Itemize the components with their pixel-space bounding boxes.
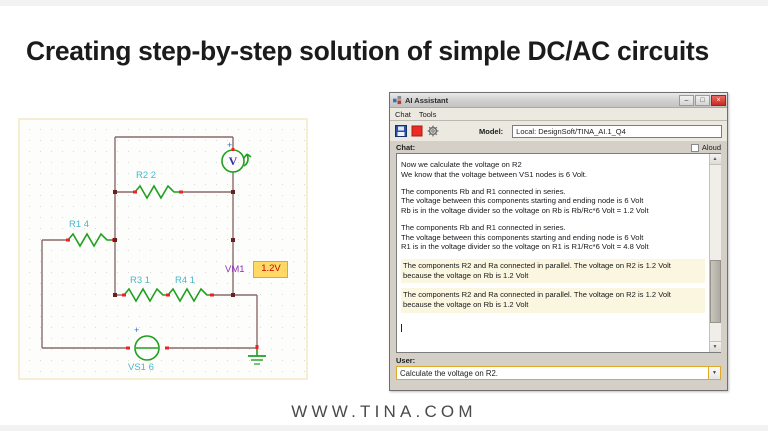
model-label: Model: [479,127,503,136]
text-caret [401,324,402,332]
chat-header-row: Chat: Aloud [390,141,727,153]
chevron-down-icon[interactable]: ▼ [709,366,721,380]
aloud-checkbox-wrapper[interactable]: Aloud [691,143,721,152]
stop-icon[interactable] [411,125,423,137]
chat-message: Now we calculate the voltage on R2We kno… [401,160,705,179]
save-icon[interactable] [395,125,407,137]
menu-item-tools[interactable]: Tools [419,110,437,119]
circuit-schematic: V + + [20,120,306,378]
user-label: User: [390,353,727,366]
menu-bar: Chat Tools [390,108,727,121]
meter-name-label: VM1 [225,264,245,275]
component-label-r1: R1 4 [69,219,89,230]
menu-item-chat[interactable]: Chat [395,110,411,119]
scroll-track[interactable] [710,165,721,341]
chat-message-line: The voltage between this components star… [401,233,705,243]
ai-assistant-window: AI Assistant – □ × Chat Tools [389,92,728,391]
svg-text:+: + [227,140,232,150]
circuit-diagram-panel: V + + [18,118,308,380]
component-label-vs1: VS1 6 [128,362,154,373]
component-label-r4: R4 1 [175,275,195,286]
chat-message-line: because the voltage on Rb is 1.2 Volt [403,300,703,310]
chat-message: The components Rb and R1 connected in se… [401,223,705,252]
meter-readout-value: 1.2V [256,263,286,274]
toolbar: Model: Local: DesignSoft/TINA_AI.1_Q4 [390,121,727,141]
gear-icon[interactable] [427,125,439,137]
chat-message: The components Rb and R1 connected in se… [401,187,705,216]
chat-message-line: The components R2 and Ra connected in pa… [403,290,703,300]
chat-message-line: We know that the voltage between VS1 nod… [401,170,705,180]
window-titlebar[interactable]: AI Assistant – □ × [390,93,727,108]
transcript-scrollbar[interactable]: ▲ ▼ [709,154,720,352]
aloud-checkbox[interactable] [691,144,699,152]
scroll-thumb[interactable] [710,260,721,323]
chat-message-highlighted: The components R2 and Ra connected in pa… [401,288,705,312]
close-button[interactable]: × [711,95,726,106]
window-title: AI Assistant [405,96,678,105]
model-field[interactable]: Local: DesignSoft/TINA_AI.1_Q4 [512,125,722,138]
chat-label: Chat: [396,143,691,152]
chat-message-line: because the voltage on Rb is 1.2 Volt [403,271,703,281]
scroll-down-arrow[interactable]: ▼ [710,341,721,352]
component-label-r3: R3 1 [130,275,150,286]
svg-text:+: + [134,325,139,335]
user-input-field[interactable]: Calculate the voltage on R2. [396,366,709,380]
aloud-label: Aloud [702,143,721,152]
chat-message-line: The components R2 and Ra connected in pa… [403,261,703,271]
chat-message-highlighted: The components R2 and Ra connected in pa… [401,259,705,283]
chat-message-line: The voltage between this components star… [401,196,705,206]
svg-text:V: V [229,154,238,168]
maximize-button[interactable]: □ [695,95,710,106]
component-label-r2: R2 2 [136,170,156,181]
chat-transcript[interactable]: Now we calculate the voltage on R2We kno… [397,154,709,352]
chat-message-line: Rb is in the voltage divider so the volt… [401,206,705,216]
chat-transcript-panel: Now we calculate the voltage on R2We kno… [396,153,721,353]
user-input-row: Calculate the voltage on R2. ▼ [396,366,721,380]
minimize-button[interactable]: – [679,95,694,106]
footer-url: WWW.TINA.COM [0,402,768,422]
app-icon [393,96,402,105]
chat-message-line: The components Rb and R1 connected in se… [401,223,705,233]
chat-message-line: R1 is in the voltage divider so the volt… [401,242,705,252]
scroll-up-arrow[interactable]: ▲ [710,154,721,165]
page-title: Creating step-by-step solution of simple… [26,36,742,67]
chat-message-line: The components Rb and R1 connected in se… [401,187,705,197]
chat-message-line: Now we calculate the voltage on R2 [401,160,705,170]
slide: Creating step-by-step solution of simple… [0,0,768,431]
